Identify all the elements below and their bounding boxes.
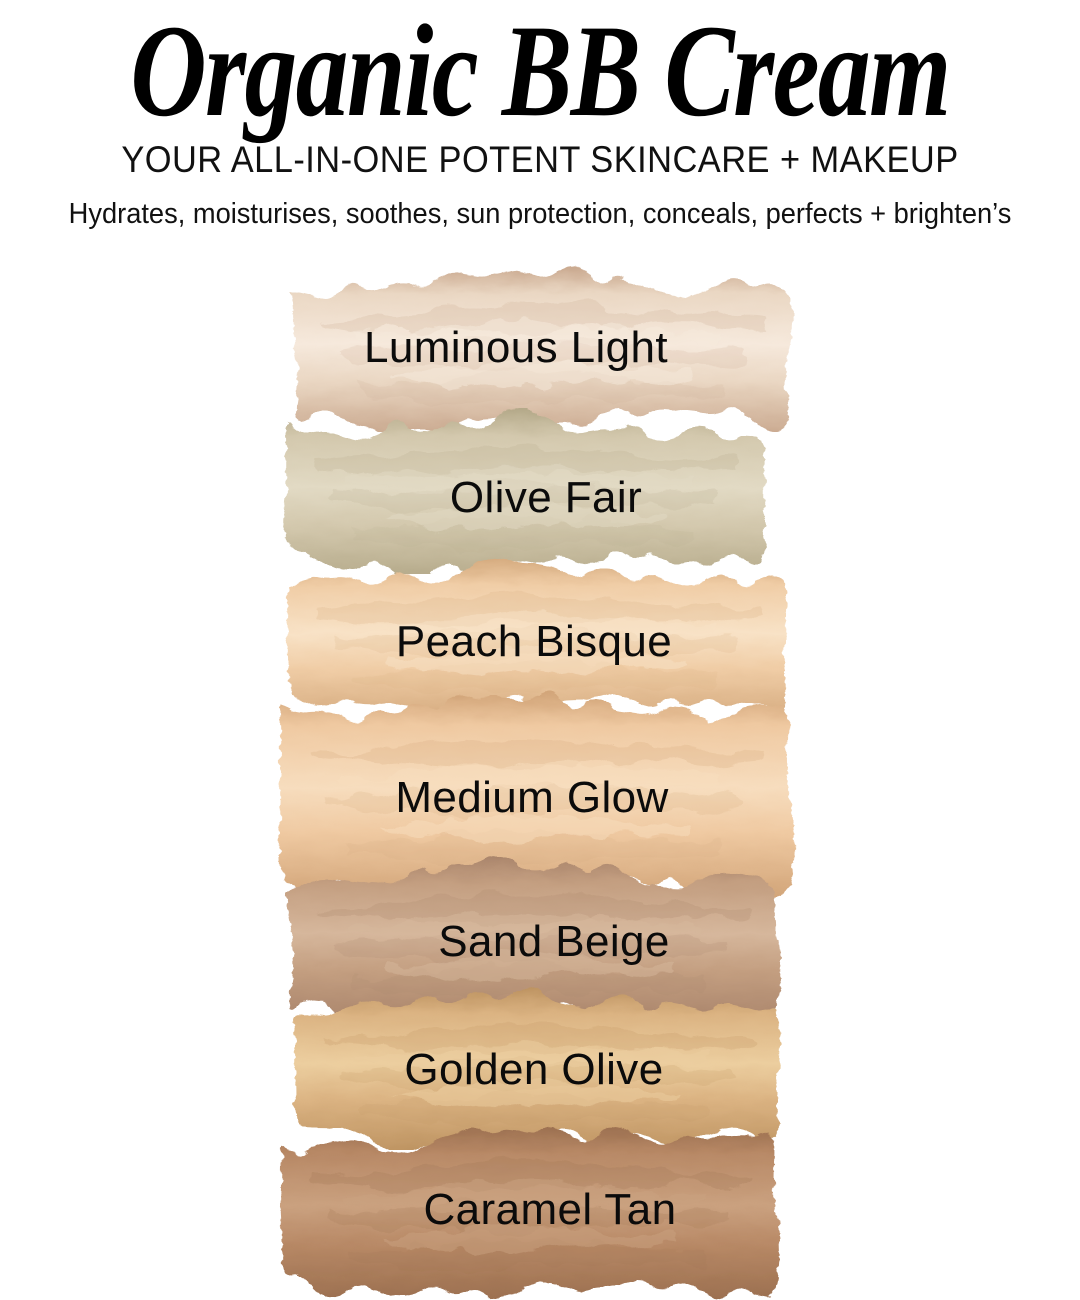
header-tagline: Hydrates, moisturises, soothes, sun prot… [32, 178, 1047, 229]
shade-swatch [0, 264, 1080, 432]
shade-swatch-shape [0, 408, 1080, 574]
page-title: Organic BB Cream [108, 0, 972, 139]
shade-swatch [0, 408, 1080, 574]
shade-swatch-shape [0, 264, 1080, 432]
shade-swatch [0, 1120, 1080, 1300]
header: Organic BB Cream YOUR ALL-IN-ONE POTENT … [0, 0, 1080, 229]
shade-swatch-shape [0, 1120, 1080, 1300]
header-subtitle: YOUR ALL-IN-ONE POTENT SKINCARE + MAKEUP [38, 139, 1042, 178]
shade-swatch-stack: Luminous LightOlive FairPeach BisqueMedi… [0, 258, 1080, 1280]
